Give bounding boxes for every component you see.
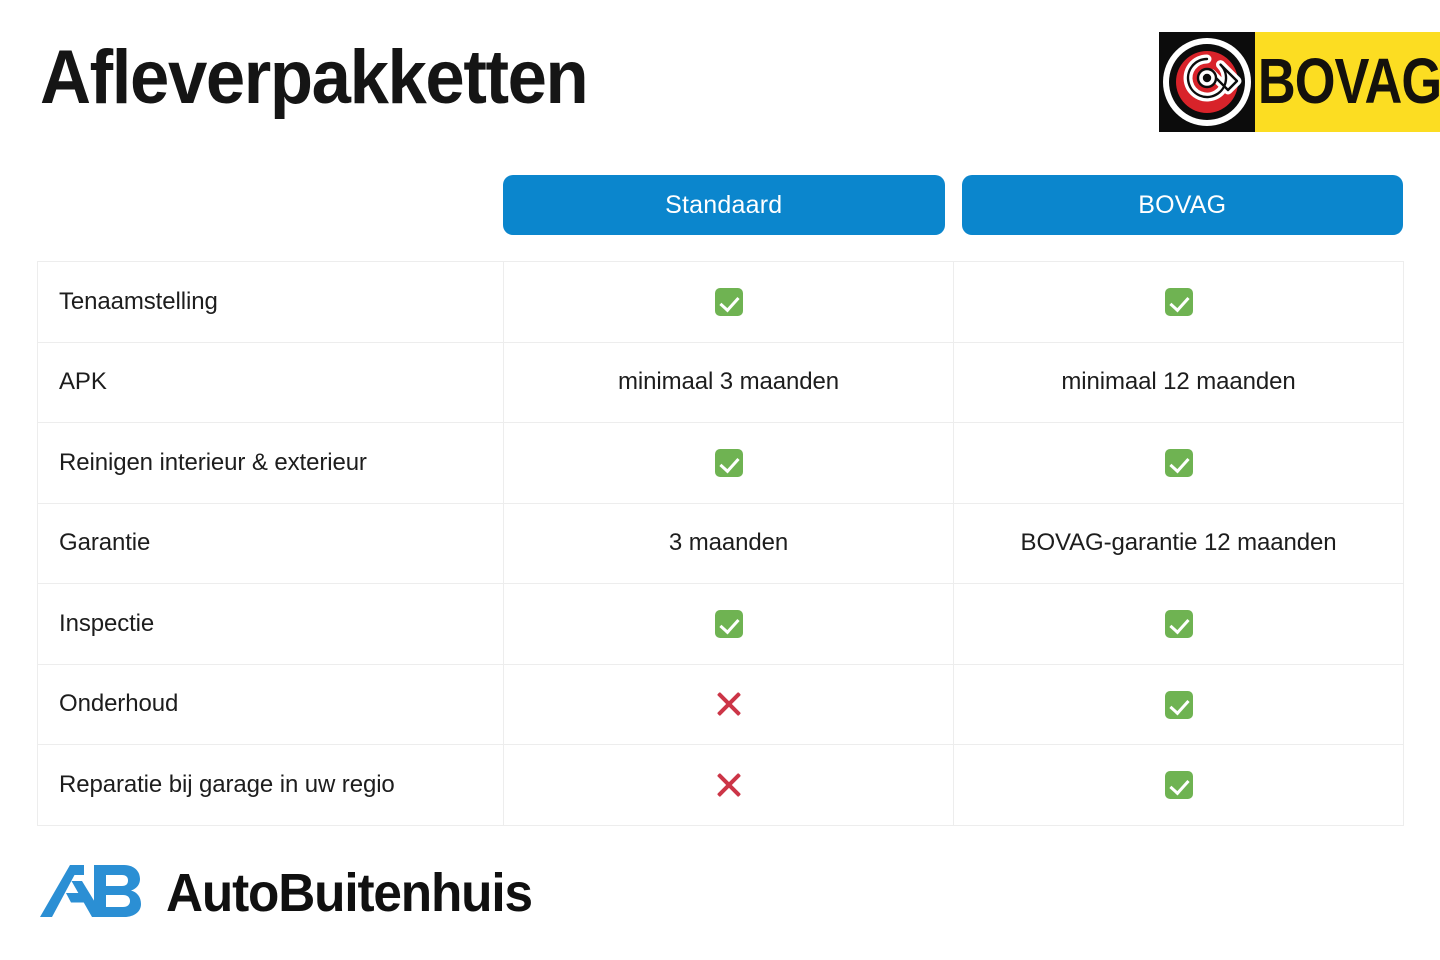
- table-row: Garantie3 maandenBOVAG-garantie 12 maand…: [38, 503, 1404, 584]
- column-headers: Standaard BOVAG: [503, 175, 1403, 235]
- table-row: Onderhoud: [38, 664, 1404, 745]
- cross-icon: [714, 770, 744, 800]
- bovag-emblem-icon: [1159, 32, 1255, 132]
- check-icon: [1165, 771, 1193, 799]
- table-row: Tenaamstelling: [38, 262, 1404, 343]
- cell-bovag: BOVAG-garantie 12 maanden: [954, 503, 1404, 584]
- column-header-standaard[interactable]: Standaard: [503, 175, 945, 235]
- check-icon: [715, 288, 743, 316]
- check-icon: [715, 449, 743, 477]
- cell-standaard: minimaal 3 maanden: [504, 342, 954, 423]
- cell-bovag: [954, 262, 1404, 343]
- cell-standaard: [504, 664, 954, 745]
- feature-label: Inspectie: [38, 584, 504, 665]
- cell-standaard: [504, 745, 954, 826]
- check-icon: [1165, 691, 1193, 719]
- cell-standaard: [504, 423, 954, 504]
- cell-standaard: 3 maanden: [504, 503, 954, 584]
- cell-bovag: [954, 584, 1404, 665]
- comparison-table: TenaamstellingAPKminimaal 3 maandenminim…: [37, 261, 1404, 826]
- ab-monogram-icon: [40, 863, 144, 924]
- feature-label: Reparatie bij garage in uw regio: [38, 745, 504, 826]
- check-icon: [1165, 610, 1193, 638]
- cell-bovag: [954, 423, 1404, 504]
- check-icon: [1165, 288, 1193, 316]
- table-row: Reinigen interieur & exterieur: [38, 423, 1404, 504]
- feature-label: APK: [38, 342, 504, 423]
- bovag-logo: BOVAG: [1159, 32, 1403, 132]
- table-row: Inspectie: [38, 584, 1404, 665]
- table-row: Reparatie bij garage in uw regio: [38, 745, 1404, 826]
- check-icon: [715, 610, 743, 638]
- cell-standaard: [504, 262, 954, 343]
- autobuitenhuis-wordmark: AutoBuitenhuis: [166, 866, 532, 920]
- comparison-table-body: TenaamstellingAPKminimaal 3 maandenminim…: [38, 262, 1404, 826]
- cross-icon: [714, 689, 744, 719]
- autobuitenhuis-logo: AutoBuitenhuis: [40, 862, 551, 924]
- feature-label: Garantie: [38, 503, 504, 584]
- check-icon: [1165, 449, 1193, 477]
- table-row: APKminimaal 3 maandenminimaal 12 maanden: [38, 342, 1404, 423]
- feature-label: Reinigen interieur & exterieur: [38, 423, 504, 504]
- cell-bovag: [954, 664, 1404, 745]
- cell-standaard: [504, 584, 954, 665]
- page-title: Afleverpakketten: [40, 36, 587, 120]
- page-root: Afleverpakketten BOVAG Standaard BOVAG T…: [0, 0, 1440, 960]
- column-header-bovag[interactable]: BOVAG: [962, 175, 1404, 235]
- feature-label: Tenaamstelling: [38, 262, 504, 343]
- cell-bovag: [954, 745, 1404, 826]
- bovag-wordmark: BOVAG: [1255, 32, 1440, 132]
- cell-bovag: minimaal 12 maanden: [954, 342, 1404, 423]
- bovag-wordmark-text: BOVAG: [1258, 50, 1440, 114]
- feature-label: Onderhoud: [38, 664, 504, 745]
